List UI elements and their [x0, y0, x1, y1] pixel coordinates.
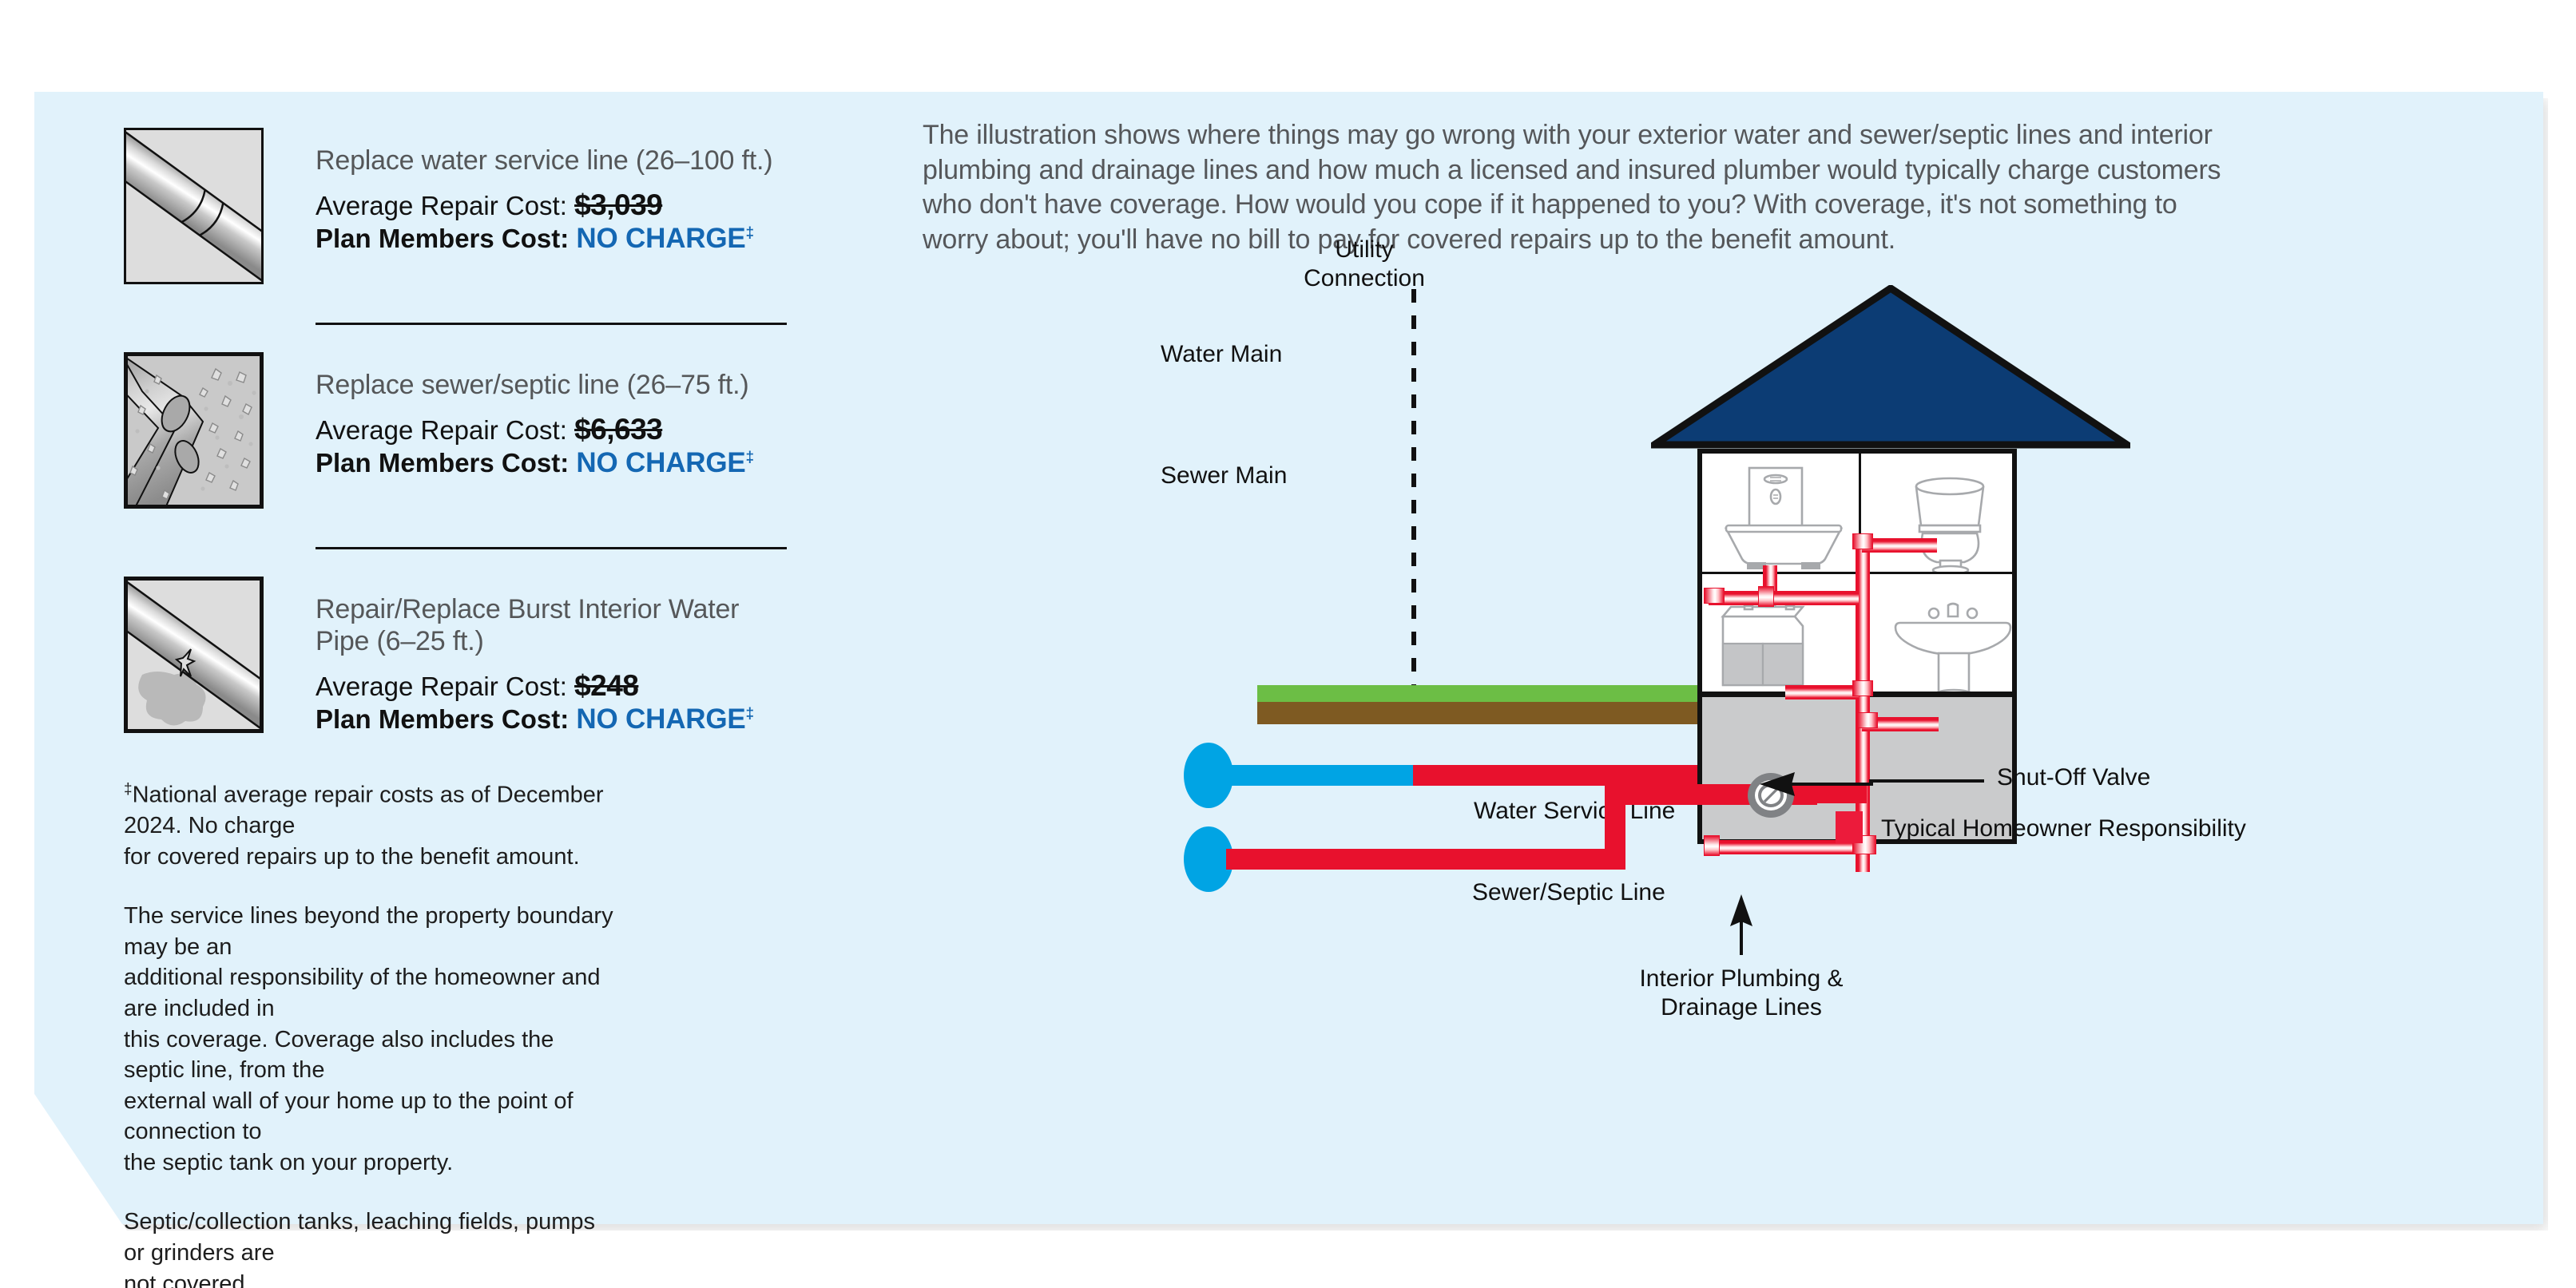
- footnote-marker: ‡: [124, 781, 133, 798]
- interior-plumbing-arrow: [1725, 894, 1757, 957]
- card-title: Repair/Replace Burst Interior Water Pipe…: [316, 594, 891, 658]
- footnote-primary: ‡National average repair costs as of Dec…: [124, 779, 627, 872]
- pedestal-sink-icon: [1894, 602, 2014, 698]
- label-shut-off-valve: Shut-Off Valve: [1997, 763, 2150, 792]
- average-cost-value: $3,039: [574, 188, 662, 221]
- footnote-marker: ‡: [746, 705, 754, 722]
- label-sewer-septic-line: Sewer/Septic Line: [1472, 878, 1665, 907]
- card-divider: [316, 547, 787, 549]
- burst-pipe-leak-icon: [124, 577, 264, 733]
- plan-members-label: Plan Members Cost:: [316, 224, 576, 253]
- grass-strip: [1257, 685, 1703, 702]
- shut-off-valve-arrow: [1753, 770, 1873, 797]
- average-repair-cost-row: Average Repair Cost: $3,039: [316, 188, 891, 222]
- straight-pipe-icon: [124, 128, 264, 284]
- coupling-pedestal-branch: [1857, 712, 1878, 728]
- coupling-bathtub-drop: [1758, 586, 1774, 607]
- legend-label-homeowner-responsibility: Typical Homeowner Responsibility: [1881, 814, 2246, 843]
- average-repair-cost-row: Average Repair Cost: $6,633: [316, 413, 891, 446]
- average-cost-label: Average Repair Cost:: [316, 672, 574, 701]
- water-main-stub: [1226, 765, 1416, 786]
- footnote-primary-text: National average repair costs as of Dece…: [124, 783, 604, 870]
- cost-card-burst-interior-pipe: Repair/Replace Burst Interior Water Pipe…: [124, 577, 891, 744]
- plan-members-value: NO CHARGE: [576, 223, 745, 254]
- plan-members-label: Plan Members Cost:: [316, 448, 576, 478]
- bathtub-icon: [1720, 466, 1848, 570]
- average-cost-label: Average Repair Cost:: [316, 415, 574, 445]
- average-repair-cost-row: Average Repair Cost: $248: [316, 669, 891, 703]
- kitchen-sink-icon: [1718, 591, 1846, 695]
- plumbing-diagram: Utility Connection Water Main Water Serv…: [923, 264, 2544, 1054]
- legend-swatch-homeowner: [1836, 811, 1863, 843]
- average-cost-value: $248: [574, 669, 638, 702]
- label-sewer-main: Sewer Main: [1161, 462, 1287, 490]
- plan-members-cost-row: Plan Members Cost: NO CHARGE‡: [316, 447, 891, 479]
- kitchen-sink-branch-pipe: [1785, 685, 1859, 699]
- coupling-kitchen-branch: [1852, 680, 1873, 696]
- plan-members-value: NO CHARGE: [576, 447, 745, 478]
- card-title: Replace sewer/septic line (26–75 ft.): [316, 370, 891, 402]
- plan-members-value: NO CHARGE: [576, 703, 745, 735]
- footnote-exclusions: Septic/collection tanks, leaching fields…: [124, 1207, 619, 1288]
- footnote-marker: ‡: [746, 224, 754, 241]
- average-cost-label: Average Repair Cost:: [316, 191, 574, 220]
- footnote-marker: ‡: [746, 449, 754, 466]
- plan-members-cost-row: Plan Members Cost: NO CHARGE‡: [316, 703, 891, 735]
- cost-card-water-service: Replace water service line (26–100 ft.) …: [124, 128, 891, 295]
- property-boundary-dashed-line: [1411, 289, 1416, 736]
- sewer-septic-line-pipe-entry: [1605, 784, 1709, 805]
- sewer-septic-line-pipe-horizontal: [1226, 849, 1625, 870]
- plan-members-cost-row: Plan Members Cost: NO CHARGE‡: [316, 223, 891, 255]
- toilet-icon: [1899, 473, 2002, 572]
- soil-strip: [1257, 702, 1703, 724]
- footnote-service-lines: The service lines beyond the property bo…: [124, 901, 619, 1178]
- roof: [1651, 285, 2130, 453]
- label-utility-connection: Utility Connection: [1272, 236, 1456, 293]
- house-cutaway: [1697, 285, 2089, 892]
- card-title: Replace water service line (26–100 ft.): [316, 145, 891, 177]
- infographic-root: Replace water service line (26–100 ft.) …: [0, 0, 2576, 1288]
- intro-paragraph: The illustration shows where things may …: [923, 118, 2520, 257]
- coupling-basement-drain-left: [1704, 835, 1720, 856]
- upper-floor-run-pipe: [1709, 591, 1859, 605]
- cost-card-sewer-septic: Replace sewer/septic line (26–75 ft.) Av…: [124, 352, 891, 520]
- buried-sewer-pipe-icon: [124, 352, 264, 509]
- toilet-branch-pipe: [1862, 538, 1937, 553]
- average-cost-value: $6,633: [574, 413, 662, 446]
- cost-cards-column: Replace water service line (26–100 ft.) …: [124, 128, 891, 1288]
- coupling-toilet-branch: [1852, 533, 1873, 549]
- label-interior-plumbing: Interior Plumbing & Drainage Lines: [1629, 965, 1853, 1022]
- label-water-main: Water Main: [1161, 340, 1282, 369]
- card-divider: [316, 323, 787, 325]
- plan-members-label: Plan Members Cost:: [316, 704, 576, 734]
- shut-off-valve-leader-line: [1869, 779, 1984, 783]
- coupling-upper-left-cap: [1704, 588, 1725, 604]
